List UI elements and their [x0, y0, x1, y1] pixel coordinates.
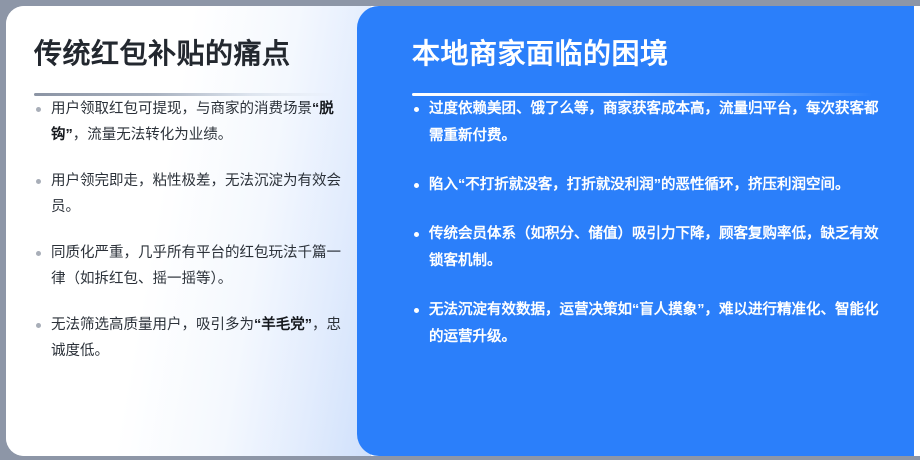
- emphasis-text: “羊毛党”: [254, 317, 312, 333]
- emphasis-text: 陷入“不打折就没客，打折就没利润”的恶性循环，挤压利润空间。: [429, 177, 850, 193]
- left-panel-title: 传统红包补贴的痛点: [34, 36, 345, 71]
- right-bullet-list: 过度依赖美团、饿了么等，商家获客成本高，流量归平台，每次获客都需重新付费。陷入“…: [412, 96, 886, 351]
- body-text: 用户领完即走，粘性极差，无法沉淀为有效会员。: [51, 173, 341, 215]
- list-item: 无法筛选高质量用户，吸引多为“羊毛党”，忠诚度低。: [34, 312, 345, 364]
- body-text: 无法筛选高质量用户，吸引多为: [51, 317, 254, 333]
- slide-root: 传统红包补贴的痛点 用户领取红包可提现，与商家的消费场景“脱钩”，流量无法转化为…: [0, 0, 920, 460]
- body-text: ，流量无法转化为业绩。: [73, 127, 233, 143]
- right-panel-title: 本地商家面临的困境: [412, 36, 886, 71]
- list-item: 传统会员体系（如积分、储值）吸引力下降，顾客复购率低，缺乏有效锁客机制。: [412, 221, 886, 275]
- list-item: 同质化严重，几乎所有平台的红包玩法千篇一律（如拆红包、摇一摇等）。: [34, 240, 345, 292]
- body-text: 同质化严重，几乎所有平台的红包玩法千篇一律（如拆红包、摇一摇等）。: [51, 245, 341, 287]
- pain-points-panel: 传统红包补贴的痛点 用户领取红包可提现，与商家的消费场景“脱钩”，流量无法转化为…: [6, 6, 371, 456]
- left-bullet-list: 用户领取红包可提现，与商家的消费场景“脱钩”，流量无法转化为业绩。用户领完即走，…: [34, 96, 345, 364]
- emphasis-text: “盲人摸象”: [632, 302, 705, 318]
- emphasis-text: 无法沉淀有效数据，运营决策如: [429, 302, 632, 318]
- card-right-edge: [914, 6, 920, 456]
- list-item: 用户领取红包可提现，与商家的消费场景“脱钩”，流量无法转化为业绩。: [34, 96, 345, 148]
- merchant-dilemma-panel: 本地商家面临的困境 过度依赖美团、饿了么等，商家获客成本高，流量归平台，每次获客…: [357, 6, 920, 456]
- body-text: 用户领取红包可提现，与商家的消费场景: [51, 101, 312, 117]
- list-item: 陷入“不打折就没客，打折就没利润”的恶性循环，挤压利润空间。: [412, 172, 886, 199]
- list-item: 用户领完即走，粘性极差，无法沉淀为有效会员。: [34, 168, 345, 220]
- emphasis-text: 传统会员体系（如积分、储值）吸引力下降，顾客复购率低，缺乏有效锁客机制。: [429, 226, 879, 269]
- list-item: 无法沉淀有效数据，运营决策如“盲人摸象”，难以进行精准化、智能化的运营升级。: [412, 297, 886, 351]
- comparison-card: 传统红包补贴的痛点 用户领取红包可提现，与商家的消费场景“脱钩”，流量无法转化为…: [6, 6, 920, 456]
- list-item: 过度依赖美团、饿了么等，商家获客成本高，流量归平台，每次获客都需重新付费。: [412, 96, 886, 150]
- emphasis-text: 过度依赖美团、饿了么等，商家获客成本高，流量归平台，每次获客都需重新付费。: [429, 101, 879, 144]
